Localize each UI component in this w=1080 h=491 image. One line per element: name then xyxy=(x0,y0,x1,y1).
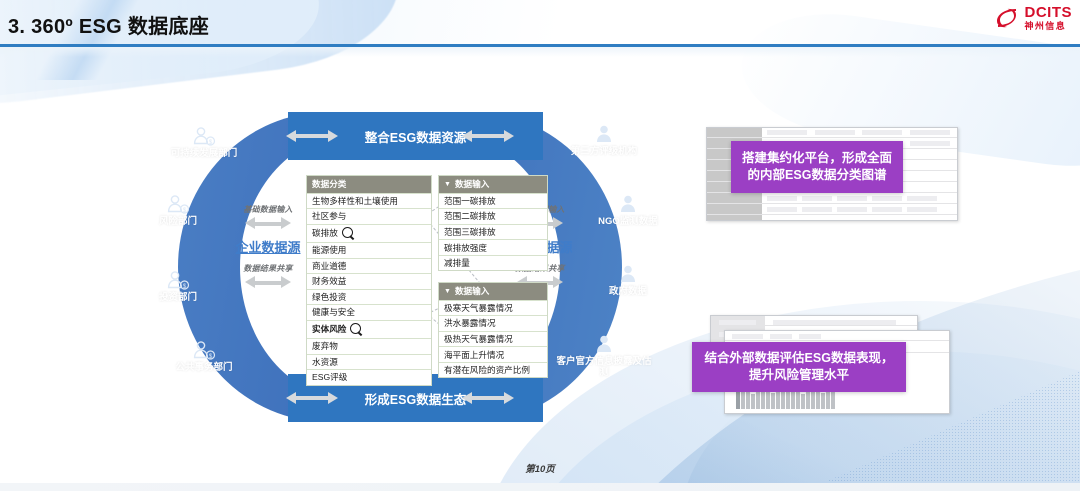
row-label: 范围三碳排放 xyxy=(444,227,496,237)
row-label: 碳排放 xyxy=(312,228,338,238)
row-label: 极寒天气暴露情况 xyxy=(444,303,513,313)
page-number: 第10页 xyxy=(0,461,1080,475)
table-row-highlighted[interactable]: 实体风险 xyxy=(307,320,431,338)
row-label: 废弃物 xyxy=(312,341,338,351)
table-row[interactable]: 极寒天气暴露情况 xyxy=(439,300,547,316)
row-label: 范围二碳排放 xyxy=(444,211,496,221)
table-row[interactable]: 生物多样性和土壤使用 xyxy=(307,193,431,209)
row-label: 水资源 xyxy=(312,357,338,367)
node-government-data[interactable]: 政府数据 xyxy=(580,264,676,298)
table-row[interactable]: 减排量 xyxy=(439,255,547,271)
input-flow-label: 基础数据输入 xyxy=(216,204,320,215)
dcits-mark-icon xyxy=(994,5,1020,31)
row-label: 健康与安全 xyxy=(312,307,355,317)
bottom-strip xyxy=(0,483,1080,491)
data-classification-table: 数据分类 生物多样性和土壤使用 社区参与 碳排放 能源使用 商业道德 财务效益 … xyxy=(306,175,432,386)
person-badge-icon: $ xyxy=(191,126,217,148)
row-label: 洪水暴露情况 xyxy=(444,318,496,328)
node-client-disclosure[interactable]: 客户官方信息披露及估测 xyxy=(556,334,652,378)
person-badge-icon: $ xyxy=(165,194,191,216)
row-label: 商业道德 xyxy=(312,261,346,271)
node-ngo-monitoring[interactable]: NGO监测数据 xyxy=(580,194,676,228)
enterprise-data-source: 基础数据输入 企业数据源 数据结果共享 xyxy=(216,204,320,291)
esg-data-diagram: 整合ESG数据资源 形成ESG数据生态 $ 可持续发展部门 xyxy=(178,112,622,422)
row-label: ESG评级 xyxy=(312,372,347,382)
share-flow-arrow-icon xyxy=(216,276,320,289)
row-label: 财务效益 xyxy=(312,276,346,286)
person-icon xyxy=(591,124,617,146)
person-badge-icon: $ xyxy=(165,270,191,292)
magnifier-icon[interactable] xyxy=(350,323,363,336)
node-risk-dept[interactable]: $ 风险部门 xyxy=(130,194,226,228)
node-label: 第三方评级机构 xyxy=(556,147,652,158)
chevron-down-icon[interactable]: ▼ xyxy=(444,181,451,188)
share-flow-label: 数据结果共享 xyxy=(216,263,320,274)
table-header[interactable]: ▼ 数据输入 xyxy=(439,176,547,193)
person-badge-icon: $ xyxy=(191,340,217,362)
table-row[interactable]: 洪水暴露情况 xyxy=(439,315,547,331)
data-input-table-physical-risk: ▼ 数据输入 极寒天气暴露情况 洪水暴露情况 极热天气暴露情况 海平面上升情况 … xyxy=(438,282,548,378)
table-row[interactable]: 能源使用 xyxy=(307,242,431,258)
row-label: 有潜在风险的资产比例 xyxy=(444,365,530,375)
input-flow-arrow-icon xyxy=(216,217,320,230)
table-row[interactable]: 健康与安全 xyxy=(307,304,431,320)
row-label: 碳排放强度 xyxy=(444,243,487,253)
row-label: 生物多样性和土壤使用 xyxy=(312,196,398,206)
brand-logo: DCITS 神州信息 xyxy=(994,5,1073,31)
table-header[interactable]: ▼ 数据输入 xyxy=(439,283,547,300)
table-row[interactable]: 有潜在风险的资产比例 xyxy=(439,362,547,378)
row-label: 减排量 xyxy=(444,258,470,268)
table-row[interactable]: ESG评级 xyxy=(307,369,431,385)
source-name: 企业数据源 xyxy=(216,237,320,256)
node-sustainability-dept[interactable]: $ 可持续发展部门 xyxy=(156,126,252,160)
band-bottom-right-arrow-icon xyxy=(462,374,514,422)
header-rule-shadow xyxy=(0,47,1080,57)
table-row[interactable]: 绿色投资 xyxy=(307,289,431,305)
row-label: 海平面上升情况 xyxy=(444,350,504,360)
callout-external-data: 结合外部数据评估ESG数据表现，提升风险管理水平 xyxy=(692,342,906,392)
logo-text-en: DCITS xyxy=(1025,5,1073,20)
table-row[interactable]: 商业道德 xyxy=(307,258,431,274)
table-row[interactable]: 废弃物 xyxy=(307,338,431,354)
row-label: 极热天气暴露情况 xyxy=(444,334,513,344)
node-label: NGO监测数据 xyxy=(580,217,676,228)
node-label: 投资部门 xyxy=(130,293,226,304)
table-row[interactable]: 碳排放强度 xyxy=(439,239,547,255)
person-icon xyxy=(615,194,641,216)
band-top-right-arrow-icon xyxy=(462,112,514,160)
table-row[interactable]: 财务效益 xyxy=(307,273,431,289)
table-row[interactable]: 社区参与 xyxy=(307,208,431,224)
table-row[interactable]: 极热天气暴露情况 xyxy=(439,331,547,347)
callout-platform: 搭建集约化平台，形成全面的内部ESG数据分类图谱 xyxy=(731,141,903,193)
node-label: 风险部门 xyxy=(130,217,226,228)
row-label: 实体风险 xyxy=(312,324,346,334)
band-top-left-arrow-icon xyxy=(286,112,338,160)
row-label: 能源使用 xyxy=(312,245,346,255)
table-row[interactable]: 水资源 xyxy=(307,354,431,370)
node-investment-dept[interactable]: $ 投资部门 xyxy=(130,270,226,304)
slide: 3. 360º ESG 数据底座 DCITS 神州信息 整合ESG数据资源 形成… xyxy=(0,0,1080,491)
table-header: 数据分类 xyxy=(307,176,431,193)
table-header-label: 数据输入 xyxy=(455,285,489,297)
row-label: 范围一碳排放 xyxy=(444,196,496,206)
chevron-down-icon[interactable]: ▼ xyxy=(444,288,451,295)
table-row[interactable]: 碳排放 xyxy=(307,224,431,242)
node-public-affairs-dept[interactable]: $ 公共事务部门 xyxy=(156,340,252,374)
node-label: 可持续发展部门 xyxy=(156,149,252,160)
table-row[interactable]: 范围二碳排放 xyxy=(439,208,547,224)
row-label: 社区参与 xyxy=(312,211,346,221)
table-row[interactable]: 海平面上升情况 xyxy=(439,346,547,362)
node-label: 公共事务部门 xyxy=(156,363,252,374)
node-label: 政府数据 xyxy=(580,287,676,298)
person-icon xyxy=(591,334,617,356)
data-input-table-carbon: ▼ 数据输入 范围一碳排放 范围二碳排放 范围三碳排放 碳排放强度 减排量 xyxy=(438,175,548,271)
table-header-label: 数据输入 xyxy=(455,178,489,190)
page-title: 3. 360º ESG 数据底座 xyxy=(8,10,209,39)
node-third-party-rating[interactable]: 第三方评级机构 xyxy=(556,124,652,158)
table-row[interactable]: 范围一碳排放 xyxy=(439,193,547,209)
row-label: 绿色投资 xyxy=(312,292,346,302)
magnifier-icon[interactable] xyxy=(342,227,355,240)
logo-text-cn: 神州信息 xyxy=(1025,22,1073,31)
node-label: 客户官方信息披露及估测 xyxy=(556,357,652,378)
table-row[interactable]: 范围三碳排放 xyxy=(439,224,547,240)
person-icon xyxy=(615,264,641,286)
